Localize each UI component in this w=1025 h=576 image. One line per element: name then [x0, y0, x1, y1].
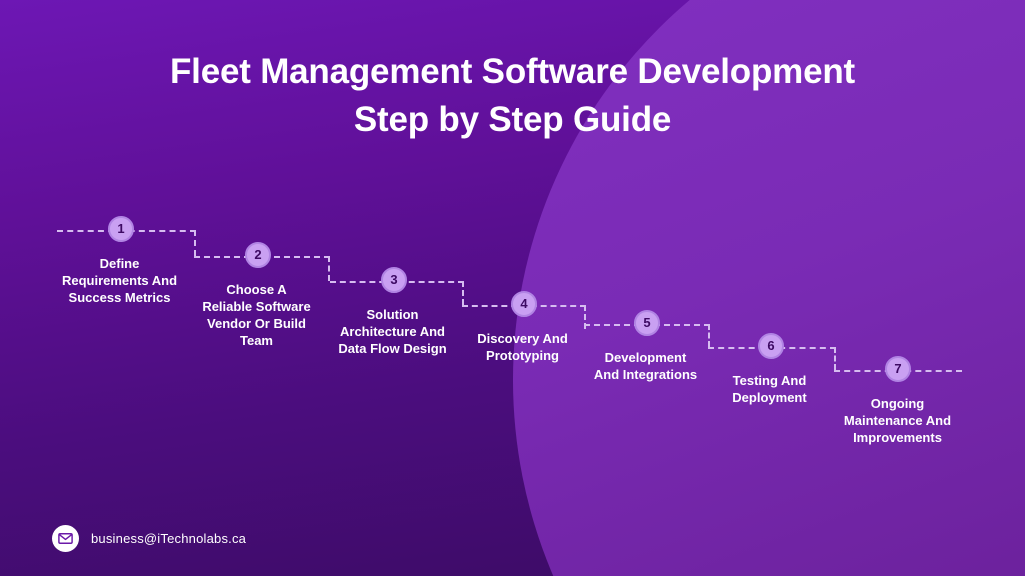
step-3-connector-drop — [462, 281, 464, 305]
envelope-icon — [52, 525, 79, 552]
step-1-badge[interactable]: 1 — [108, 216, 134, 242]
footer-email-text[interactable]: business@iTechnolabs.ca — [91, 531, 246, 546]
footer-contact: business@iTechnolabs.ca — [52, 525, 246, 552]
infographic-slide: Fleet Management Software Development St… — [0, 0, 1025, 576]
step-7-badge[interactable]: 7 — [885, 356, 911, 382]
step-5-badge[interactable]: 5 — [634, 310, 660, 336]
step-2-badge[interactable]: 2 — [245, 242, 271, 268]
step-2-connector-drop — [328, 256, 330, 281]
step-4-badge[interactable]: 4 — [511, 291, 537, 317]
step-1-connector-drop — [194, 230, 196, 256]
step-7-label: Ongoing Maintenance And Improvements — [778, 395, 1017, 446]
step-5-connector-drop — [708, 324, 710, 347]
step-3-badge[interactable]: 3 — [381, 267, 407, 293]
step-6-badge[interactable]: 6 — [758, 333, 784, 359]
step-staircase: 1 Define Requirements And Success Metric… — [0, 0, 1025, 576]
step-6-connector-drop — [834, 347, 836, 370]
